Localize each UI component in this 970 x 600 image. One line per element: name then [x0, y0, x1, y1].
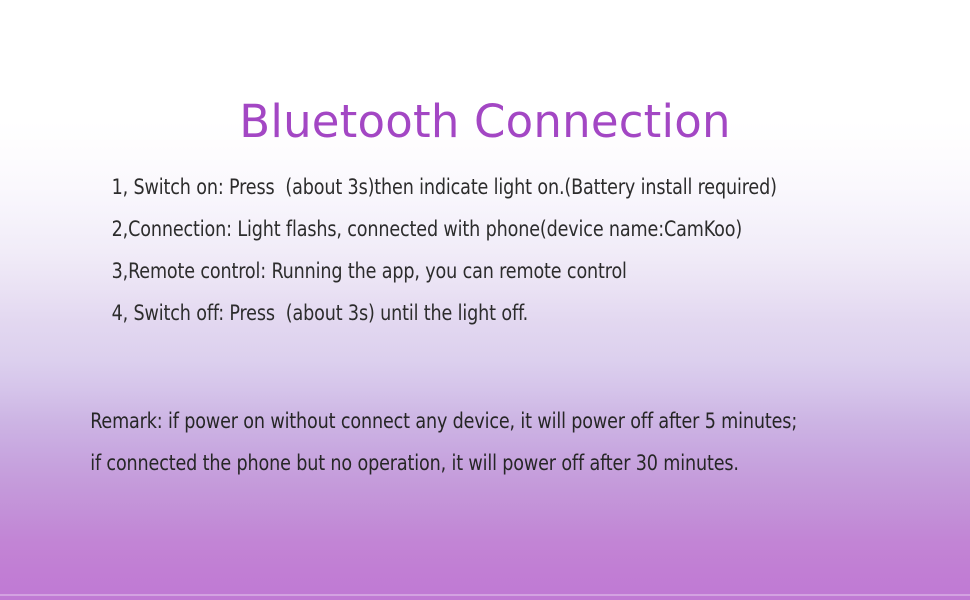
page-title: Bluetooth Connection: [0, 98, 970, 145]
remark-line-2: if connected the phone but no operation,…: [0, 442, 902, 484]
bluetooth-connection-slide: Bluetooth Connection 1, Switch on: Press…: [0, 0, 970, 600]
bottom-divider: [0, 594, 970, 596]
remark-block: Remark: if power on without connect any …: [0, 400, 970, 484]
instruction-step-3: 3,Remote control: Running the app, you c…: [0, 250, 902, 292]
instruction-step-list: 1, Switch on: Press (about 3s)then indic…: [0, 166, 970, 334]
instruction-step-4: 4, Switch off: Press (about 3s) until th…: [0, 292, 902, 334]
remark-line-1: Remark: if power on without connect any …: [0, 400, 902, 442]
instruction-step-1: 1, Switch on: Press (about 3s)then indic…: [0, 166, 902, 208]
instruction-step-2: 2,Connection: Light flashs, connected wi…: [0, 208, 902, 250]
